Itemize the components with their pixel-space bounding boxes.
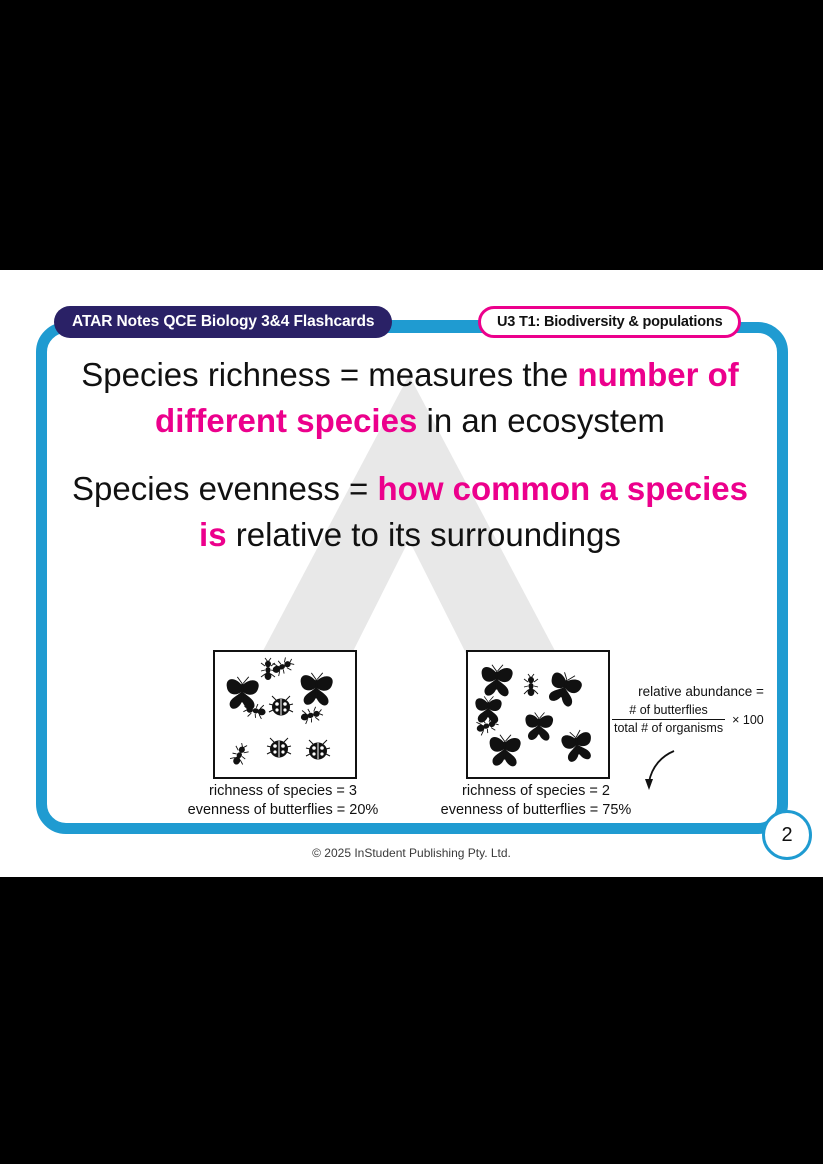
caption-left: richness of species = 3 evenness of butt… (173, 782, 393, 820)
caption-left-evenness: evenness of butterflies = 20% (173, 801, 393, 820)
richness-text-part-1: Species richness = measures the (81, 356, 577, 393)
topic-pill-label: U3 T1: Biodiversity & populations (497, 314, 722, 330)
formula-title: relative abundance = (618, 684, 784, 699)
mixed-insects-illustration (215, 652, 351, 773)
page-number-badge: 2 (762, 810, 812, 860)
topic-pill: U3 T1: Biodiversity & populations (478, 306, 741, 338)
formula-multiplier: × 100 (732, 713, 764, 727)
caption-right: richness of species = 2 evenness of butt… (426, 782, 646, 820)
definition-species-evenness: Species evenness = how common a species … (60, 466, 760, 558)
definition-spacer (60, 444, 760, 466)
formula-fraction: # of butterflies total # of organisms (612, 703, 725, 736)
caption-left-richness: richness of species = 3 (173, 782, 393, 801)
evenness-text-part-1: Species evenness = (72, 470, 377, 507)
copyright-footer: © 2025 InStudent Publishing Pty. Ltd. (0, 846, 823, 860)
relative-abundance-formula: relative abundance = # of butterflies to… (612, 684, 784, 736)
specimen-panel-left (213, 650, 357, 779)
definition-species-richness: Species richness = measures the number o… (60, 352, 760, 444)
curved-arrow-icon (640, 748, 684, 801)
brand-pill-label: ATAR Notes QCE Biology 3&4 Flashcards (72, 313, 374, 331)
page-number-value: 2 (781, 824, 792, 847)
formula-expression: # of butterflies total # of organisms × … (612, 703, 784, 736)
caption-right-richness: richness of species = 2 (426, 782, 646, 801)
caption-right-evenness: evenness of butterflies = 75% (426, 801, 646, 820)
specimen-panel-right (466, 650, 610, 779)
brand-pill: ATAR Notes QCE Biology 3&4 Flashcards (54, 306, 392, 338)
formula-numerator: # of butterflies (612, 703, 725, 720)
definition-block: Species richness = measures the number o… (60, 352, 760, 558)
richness-text-part-2: in an ecosystem (417, 402, 665, 439)
butterflies-illustration (468, 652, 604, 773)
evenness-text-part-2: relative to its surroundings (227, 516, 621, 553)
formula-denominator: total # of organisms (612, 720, 725, 736)
